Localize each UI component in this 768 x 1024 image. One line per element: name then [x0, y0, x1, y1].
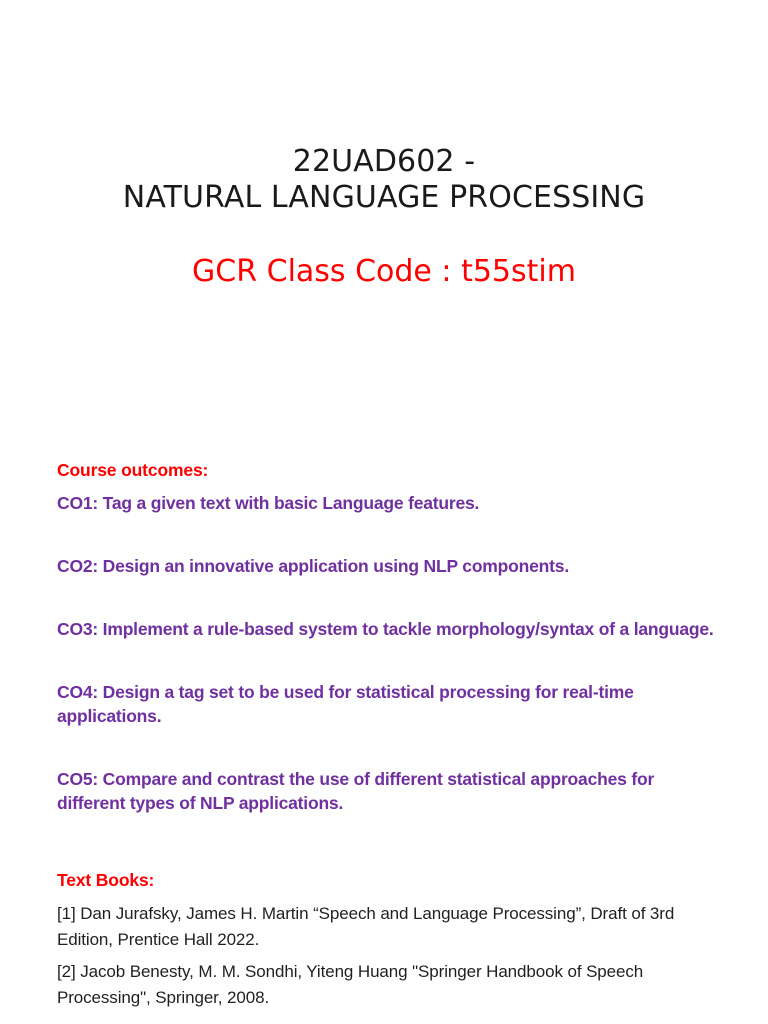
- document-body: Course outcomes: CO1: Tag a given text w…: [57, 459, 715, 1011]
- course-outcome-item: CO5: Compare and contrast the use of dif…: [57, 767, 715, 815]
- course-outcomes-heading: Course outcomes:: [57, 459, 715, 482]
- course-outcome-item: CO4: Design a tag set to be used for sta…: [57, 680, 715, 728]
- course-code-title: 22UAD602 -: [0, 144, 768, 180]
- course-name-title: NATURAL LANGUAGE PROCESSING: [0, 180, 768, 216]
- course-outcome-item: CO2: Design an innovative application us…: [57, 554, 715, 578]
- text-books-list: [1] Dan Jurafsky, James H. Martin “Speec…: [57, 901, 715, 1011]
- course-outcomes-list: CO1: Tag a given text with basic Languag…: [57, 491, 715, 815]
- course-outcome-item: CO3: Implement a rule-based system to ta…: [57, 617, 715, 641]
- text-books-heading: Text Books:: [57, 869, 715, 892]
- text-book-item: [1] Dan Jurafsky, James H. Martin “Speec…: [57, 901, 715, 953]
- document-page: 22UAD602 - NATURAL LANGUAGE PROCESSING G…: [0, 0, 768, 1024]
- text-book-item: [2] Jacob Benesty, M. M. Sondhi, Yiteng …: [57, 959, 715, 1011]
- title-block: 22UAD602 - NATURAL LANGUAGE PROCESSING G…: [0, 144, 768, 290]
- gcr-class-code: GCR Class Code : t55stim: [0, 254, 768, 290]
- course-outcome-item: CO1: Tag a given text with basic Languag…: [57, 491, 715, 515]
